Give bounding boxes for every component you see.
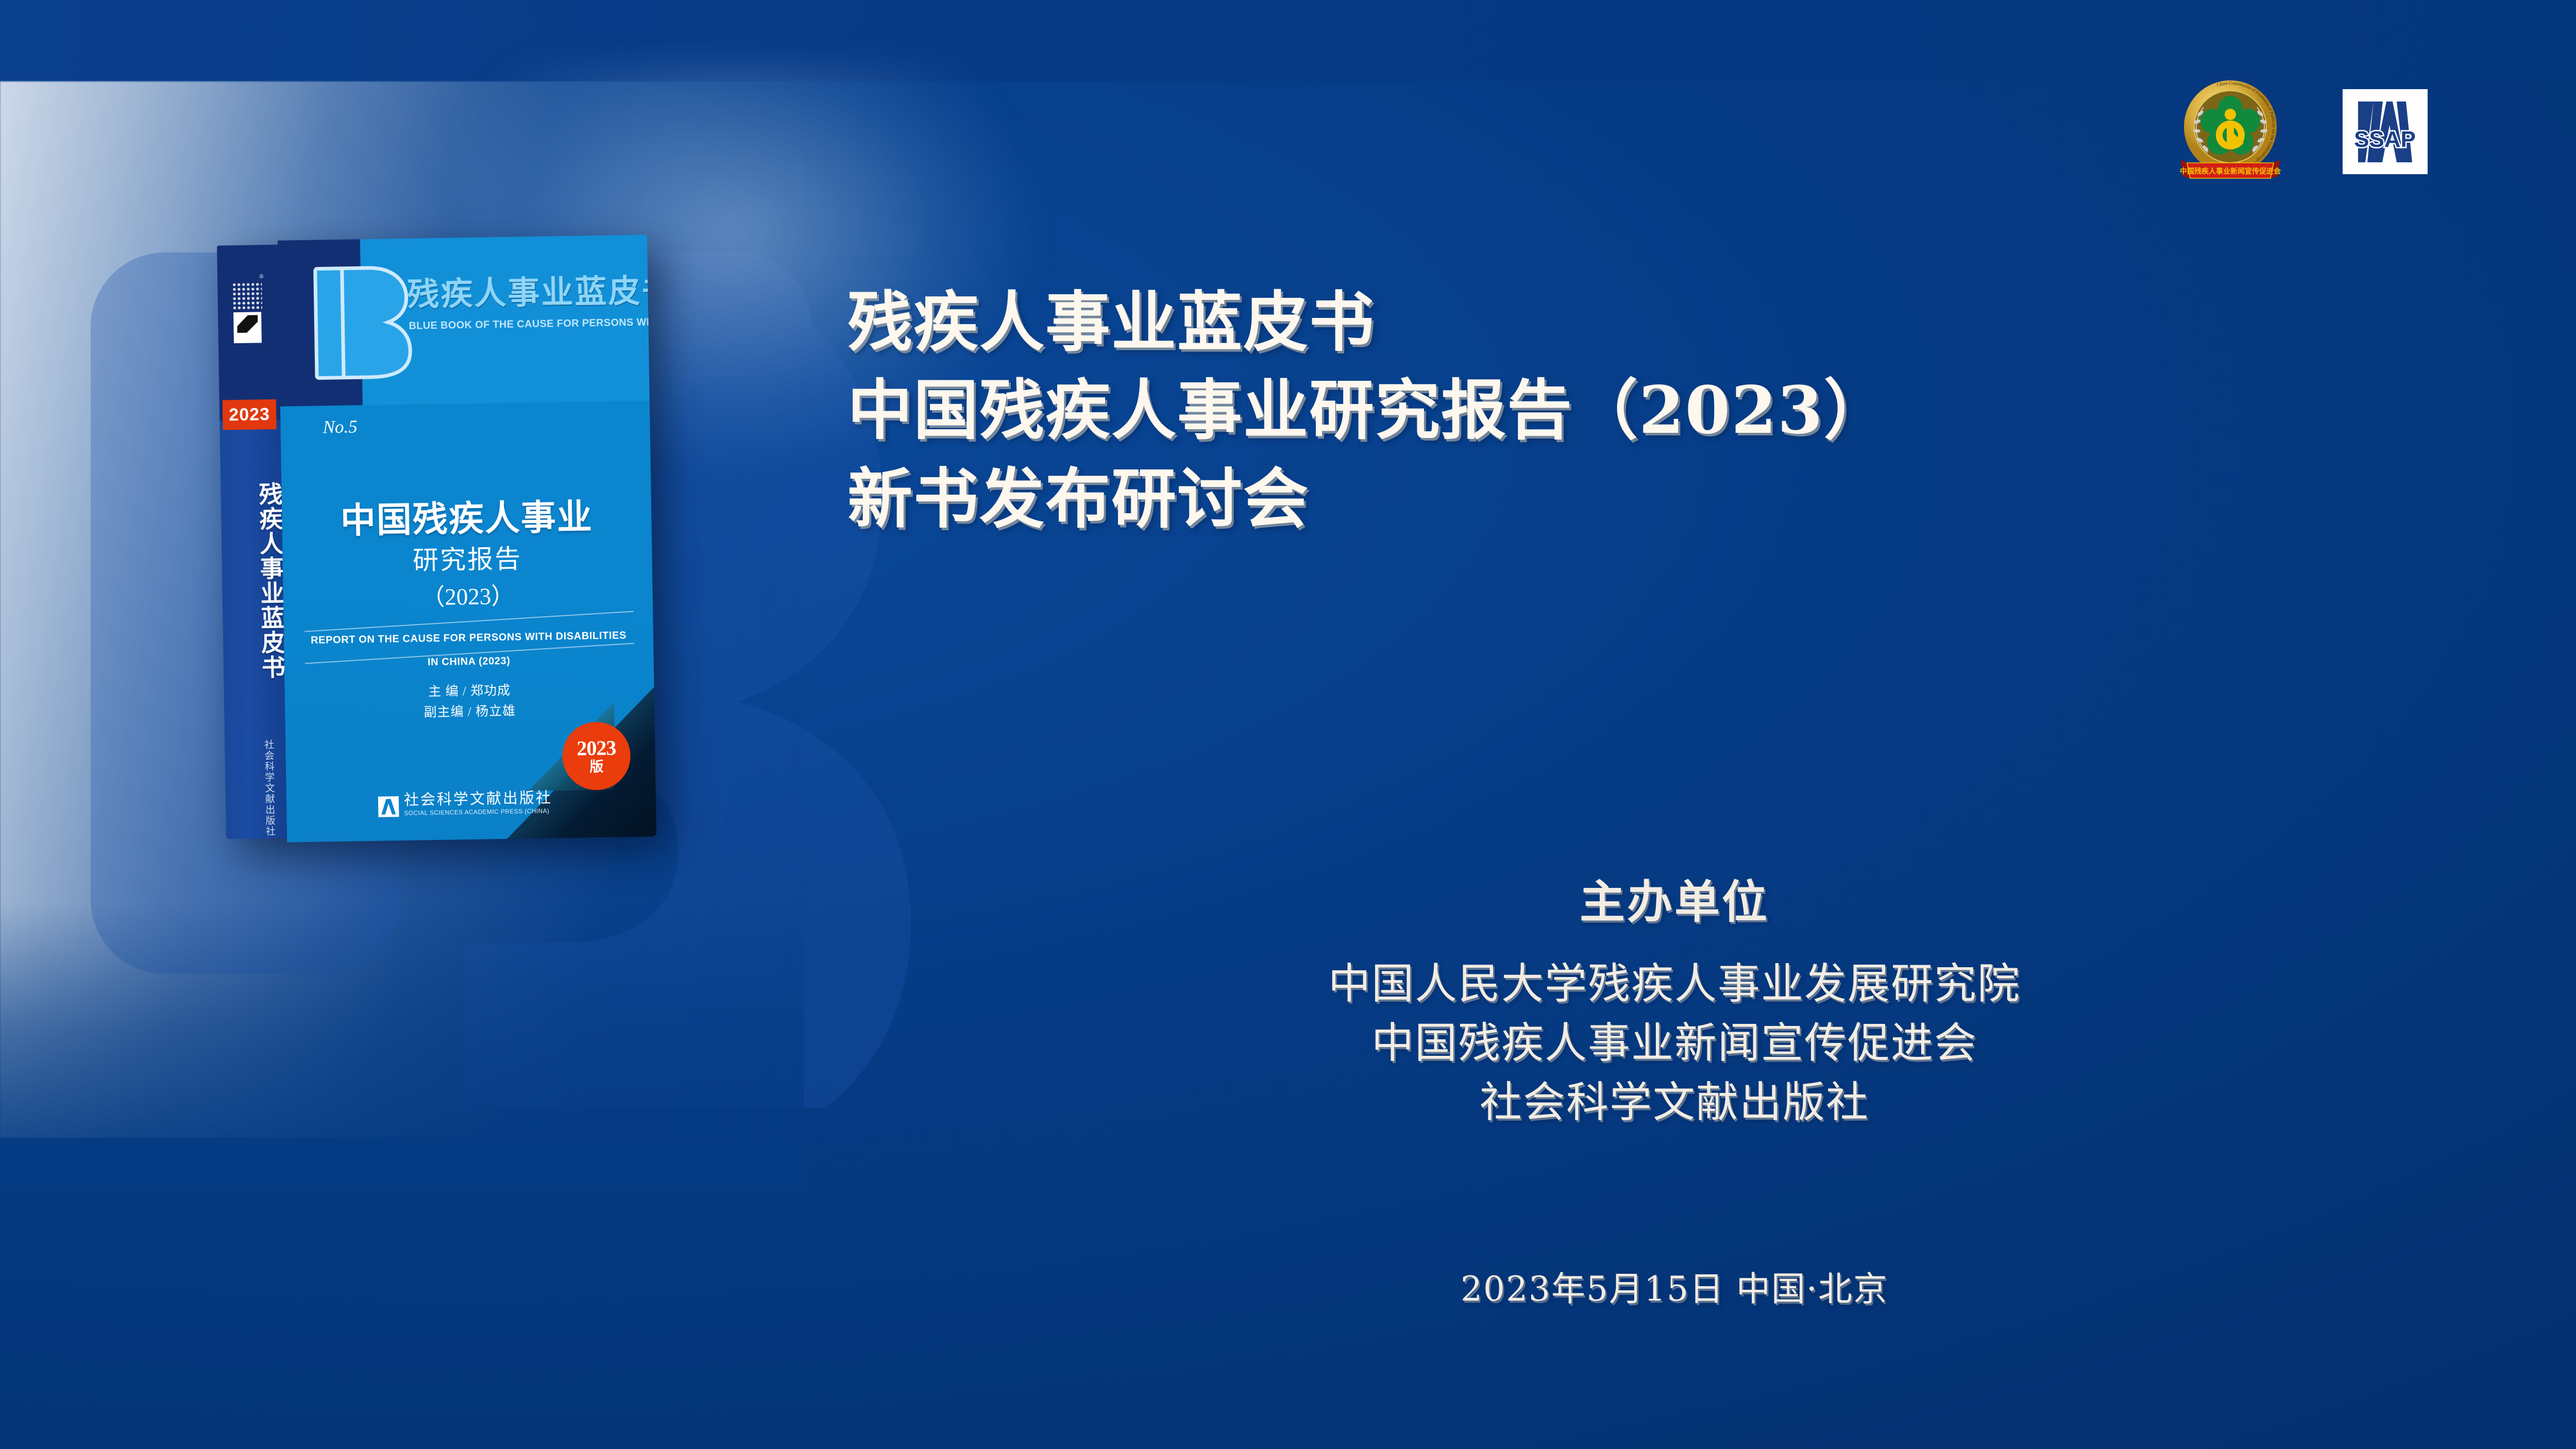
book-title-en-line1: REPORT ON THE CAUSE FOR PERSONS WITH DIS… (284, 629, 653, 647)
book-subtitle: 研究报告 (282, 536, 652, 579)
event-date-location: 2023年5月15日 中国·北京 (979, 1261, 2370, 1311)
book-spine-publisher: 社会科学文献出版社 (235, 739, 277, 837)
organizer-item: 社会科学文献出版社 (979, 1073, 2370, 1133)
book-cover-image: ® 2023 残疾人事业蓝皮书 社会科学文献出版社 残疾人事业蓝皮书 BLU (217, 235, 656, 844)
cover-divider-top (304, 611, 634, 632)
edition-badge-year: 2023 (577, 738, 616, 759)
book-publisher-cn: 社会科学文献出版社 (404, 786, 553, 810)
background-top-strip (0, 0, 2576, 81)
book-publisher-logo: 社会科学文献出版社 SOCIAL SCIENCES ACADEMIC PRESS… (378, 786, 553, 817)
book-issue-number: No.5 (323, 416, 358, 437)
ssap-logo: SSAP (2343, 89, 2428, 174)
book-glyph-icon (233, 312, 262, 343)
dots-pattern-icon (232, 282, 262, 309)
logo-row: China Commission of Promotion of Publici… (2179, 77, 2428, 186)
ssap-mark-icon (378, 796, 399, 817)
headline-line-2: 中国残疾人事业研究报告（2023） (848, 366, 2496, 454)
headline-line-1: 残疾人事业蓝皮书 (848, 278, 2496, 366)
poster-canvas: ® 2023 残疾人事业蓝皮书 社会科学文献出版社 残疾人事业蓝皮书 BLU (0, 0, 2576, 1449)
book-series-title-cn: 残疾人事业蓝皮书 (407, 264, 656, 315)
background-light-fade (0, 902, 804, 1190)
organizer-item: 中国人民大学残疾人事业发展研究院 (979, 955, 2370, 1014)
registered-icon: ® (259, 273, 264, 280)
svg-text:中国残疾人事业新闻宣传促进会: 中国残疾人事业新闻宣传促进会 (2180, 167, 2281, 176)
event-headline: 残疾人事业蓝皮书 中国残疾人事业研究报告（2023） 新书发布研讨会 (848, 278, 2496, 543)
organizers-list: 中国人民大学残疾人事业发展研究院 中国残疾人事业新闻宣传促进会 社会科学文献出版… (979, 955, 2370, 1132)
book-year: （2023） (283, 575, 653, 614)
organizer-item: 中国残疾人事业新闻宣传促进会 (979, 1014, 2370, 1073)
book-spine-title: 残疾人事业蓝皮书 (220, 436, 285, 726)
book-title-en-line2: IN CHINA (2023) (284, 653, 654, 670)
organizers-block: 主办单位 中国人民大学残疾人事业发展研究院 中国残疾人事业新闻宣传促进会 社会科… (979, 866, 2370, 1132)
headline-line-3: 新书发布研讨会 (848, 455, 2496, 543)
edition-badge-label: 版 (589, 760, 603, 774)
organizers-label: 主办单位 (979, 866, 2370, 931)
publisher-mark-icon: ® (228, 272, 266, 349)
book-title: 中国残疾人事业 (282, 487, 652, 544)
series-letter-b-icon (308, 261, 413, 384)
book-front-cover: 残疾人事业蓝皮书 BLUE BOOK OF THE CAUSE FOR PERS… (278, 235, 656, 843)
svg-text:SSAP: SSAP (2354, 127, 2416, 152)
china-commission-emblem-icon: China Commission of Promotion of Publici… (2179, 77, 2282, 186)
book-spine-year: 2023 (223, 399, 277, 430)
book-spine: ® 2023 残疾人事业蓝皮书 社会科学文献出版社 (217, 245, 287, 839)
